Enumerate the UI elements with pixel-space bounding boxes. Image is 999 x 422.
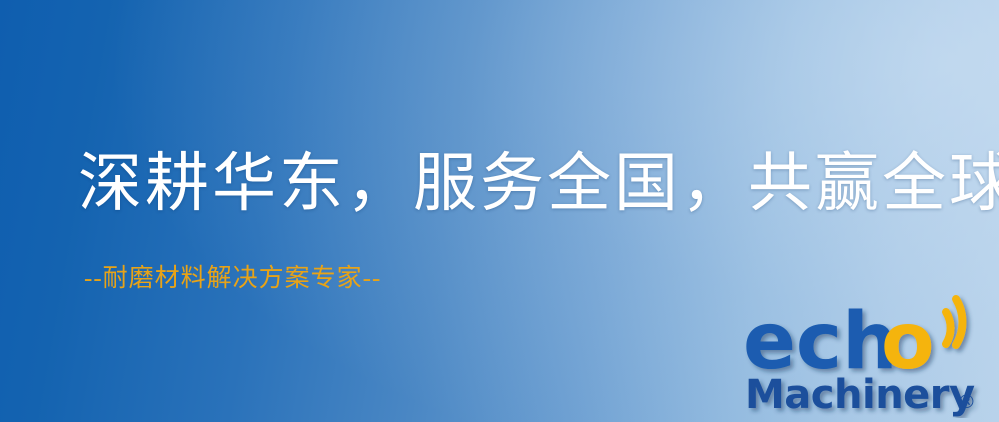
logo-tagline-machinery: Machinery [745,372,975,418]
hero-banner: 深耕华东，服务全国，共赢全球 --耐磨材料解决方案专家-- [0,0,999,422]
logo-text-ech: ech [743,297,898,380]
banner-headline: 深耕华东，服务全国，共赢全球 [78,152,999,216]
signal-arc-inner-icon [946,312,951,344]
banner-subtitle: --耐磨材料解决方案专家-- [84,266,381,291]
echo-wordmark: ech o [741,292,993,380]
registered-trademark-icon: ® [957,391,976,413]
echo-machinery-logo: ech o Machinery ® [741,292,993,420]
signal-arc-outer-icon [956,299,962,345]
logo-tagline-group: Machinery ® [745,372,993,418]
logo-text-o: o [881,297,935,380]
